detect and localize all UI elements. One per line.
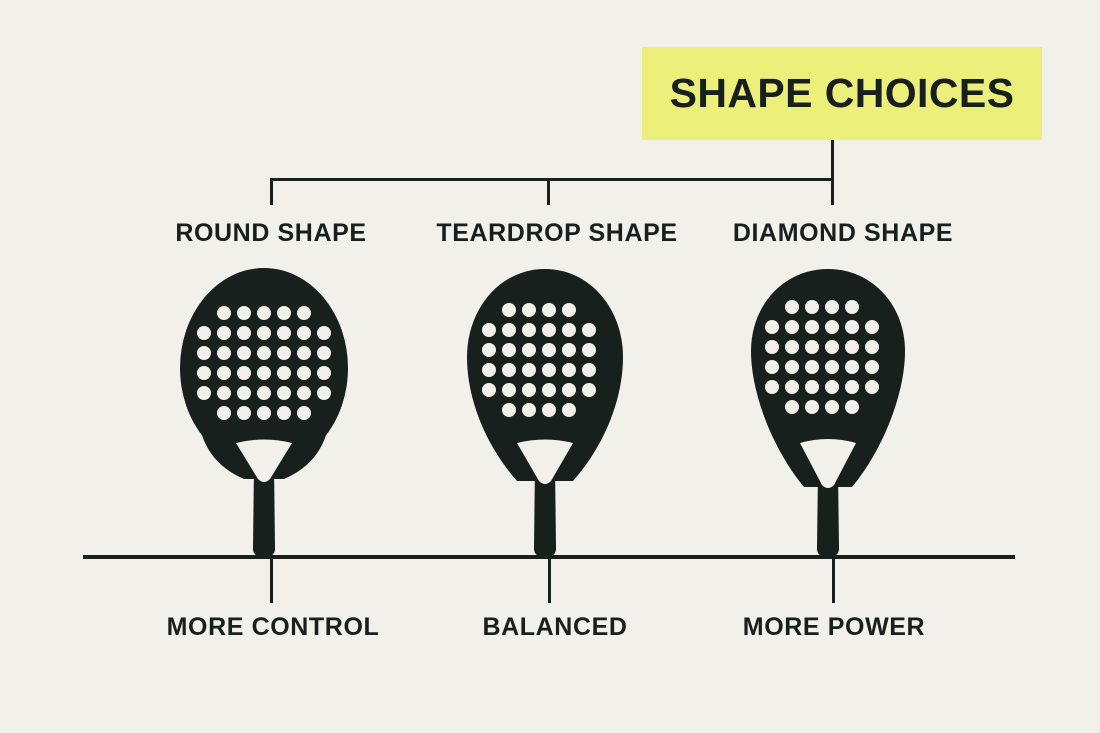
infographic-canvas: SHAPE CHOICES ROUND SHAPE TEARDROP SHAPE… <box>0 0 1100 733</box>
racket-illustration-round <box>178 265 368 565</box>
shape-label-round: ROUND SHAPE <box>175 219 366 248</box>
racket-illustration-diamond <box>748 265 928 565</box>
page-title: SHAPE CHOICES <box>670 70 1015 117</box>
shape-label-diamond: DIAMOND SHAPE <box>733 219 953 248</box>
trait-label-more-power: MORE POWER <box>743 613 925 642</box>
racket-illustration-teardrop <box>463 265 643 565</box>
connector-horizontal-bar <box>270 178 834 181</box>
connector-drop-diamond <box>831 178 834 205</box>
connector-drop-teardrop <box>547 178 550 205</box>
trait-label-balanced: BALANCED <box>482 613 627 642</box>
shape-label-teardrop: TEARDROP SHAPE <box>436 219 677 248</box>
connector-stem <box>831 140 834 181</box>
axis-tick-more-control <box>270 559 273 603</box>
title-highlight-box: SHAPE CHOICES <box>642 47 1042 140</box>
axis-tick-more-power <box>832 559 835 603</box>
trait-label-more-control: MORE CONTROL <box>167 613 380 642</box>
axis-tick-balanced <box>548 559 551 603</box>
connector-drop-round <box>270 178 273 205</box>
